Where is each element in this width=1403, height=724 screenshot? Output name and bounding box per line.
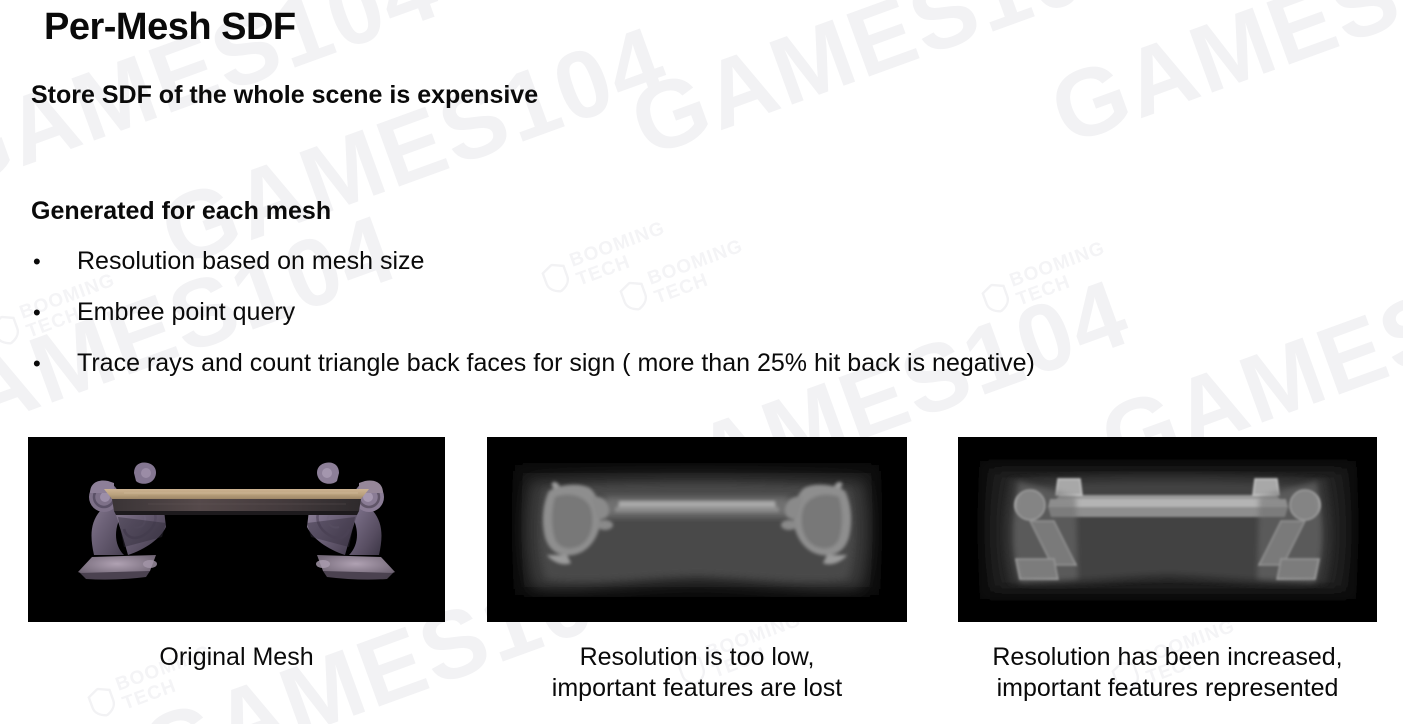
figure-low-resolution-sdf: Resolution is too low, important feature… bbox=[487, 437, 907, 622]
figure-low-resolution-sdf-image bbox=[487, 437, 907, 622]
caption-line-1: Resolution has been increased, bbox=[958, 642, 1377, 673]
list-item: • Trace rays and count triangle back fac… bbox=[31, 350, 1371, 401]
figure-high-resolution-sdf-image bbox=[958, 437, 1377, 622]
list-item-label: Resolution based on mesh size bbox=[77, 248, 1371, 276]
bench-render-illustration bbox=[28, 437, 445, 622]
figure-original-mesh: Original Mesh bbox=[28, 437, 445, 622]
figure-original-mesh-image bbox=[28, 437, 445, 622]
caption-line-2: important features are lost bbox=[487, 673, 907, 704]
caption-line-2: important features represented bbox=[958, 673, 1377, 704]
bullet-marker-icon: • bbox=[31, 350, 77, 378]
bullet-marker-icon: • bbox=[31, 299, 77, 327]
bullet-list: • Resolution based on mesh size • Embree… bbox=[31, 248, 1371, 401]
figure-high-resolution-sdf-caption: Resolution has been increased, important… bbox=[958, 642, 1377, 704]
page-title: Per-Mesh SDF bbox=[44, 6, 296, 50]
sdf-highres-illustration bbox=[958, 437, 1377, 622]
figure-low-resolution-sdf-caption: Resolution is too low, important feature… bbox=[487, 642, 907, 704]
list-item: • Embree point query bbox=[31, 299, 1371, 350]
sdf-lowres-illustration bbox=[487, 437, 907, 622]
caption-line-1: Resolution is too low, bbox=[487, 642, 907, 673]
slide-subtitle: Store SDF of the whole scene is expensiv… bbox=[31, 80, 538, 110]
list-item-label: Trace rays and count triangle back faces… bbox=[77, 350, 1371, 378]
list-item-label: Embree point query bbox=[77, 299, 1371, 327]
figure-row: Original Mesh bbox=[0, 437, 1403, 724]
caption-line-1: Original Mesh bbox=[28, 642, 445, 673]
figure-high-resolution-sdf: Resolution has been increased, important… bbox=[958, 437, 1377, 622]
list-item: • Resolution based on mesh size bbox=[31, 248, 1371, 299]
bullet-marker-icon: • bbox=[31, 248, 77, 276]
section-heading: Generated for each mesh bbox=[31, 196, 331, 226]
figure-original-mesh-caption: Original Mesh bbox=[28, 642, 445, 673]
